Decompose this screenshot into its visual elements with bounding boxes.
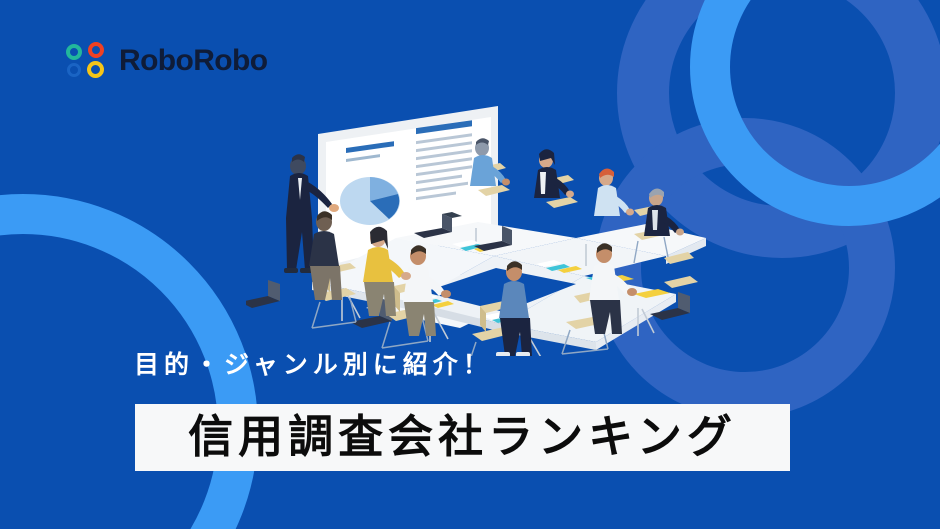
ring-dot-yellow [87,61,104,78]
isometric-meeting-room-illustration [246,86,706,356]
attendee-icon [534,149,574,198]
banner-canvas: RoboRobo [0,0,940,529]
office-chair-icon [664,252,698,288]
laptop-icon [246,280,280,308]
attendee-icon [594,168,634,216]
ring-dot-teal [66,44,82,60]
brand-logo[interactable]: RoboRobo [66,42,267,80]
page-subtitle: 目的・ジャンル別に紹介！ [134,352,493,380]
ring-dot-blue [67,63,81,77]
title-banner: 信用調査会社ランキング [135,404,790,471]
page-title: 信用調査会社ランキング [188,414,737,459]
ring-dot-red [88,42,104,58]
attendee-icon [644,188,684,236]
four-rings-icon [66,42,110,80]
brand-name: RoboRobo [119,46,267,76]
